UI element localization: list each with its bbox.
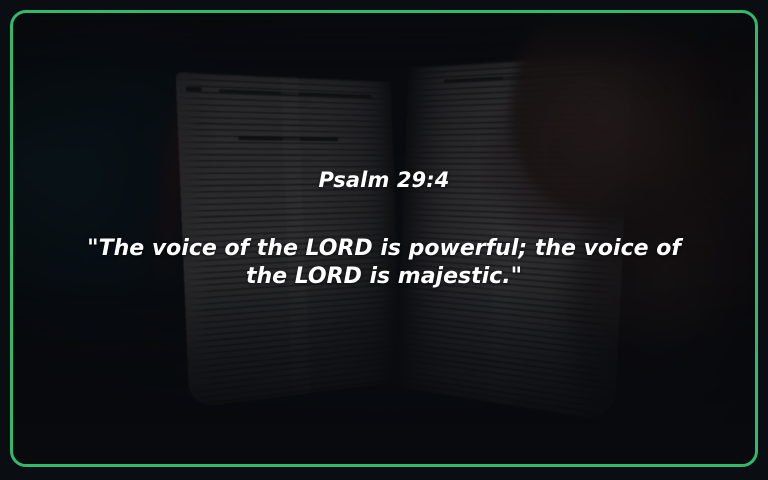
verse-reference: Psalm 29:4 xyxy=(44,168,724,193)
photo-top-fade xyxy=(10,10,758,70)
screenshot-canvas: Psalm 29:4 "The voice of the LORD is pow… xyxy=(0,0,768,480)
verse-text-block: Psalm 29:4 "The voice of the LORD is pow… xyxy=(10,168,758,292)
verse-card: Psalm 29:4 "The voice of the LORD is pow… xyxy=(10,10,758,467)
photo-bottom-fade xyxy=(10,277,758,467)
verse-quote: "The voice of the LORD is powerful; the … xyxy=(64,235,704,291)
